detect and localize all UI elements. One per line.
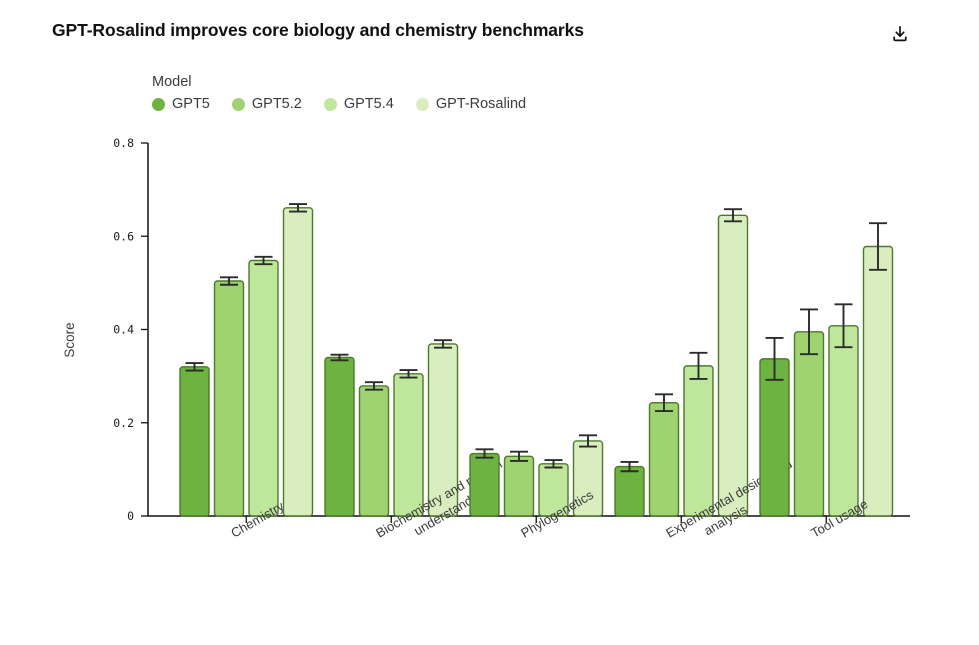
error-bar — [255, 257, 273, 264]
y-tick-label: 0 — [127, 509, 134, 523]
bar[interactable] — [284, 208, 313, 516]
error-bar — [621, 462, 639, 471]
bar[interactable] — [505, 456, 534, 516]
error-bar — [186, 363, 204, 370]
x-category-label: Phylogenetics — [518, 487, 596, 541]
bar[interactable] — [360, 386, 389, 516]
bar[interactable] — [215, 281, 244, 516]
page-title: GPT-Rosalind improves core biology and c… — [52, 20, 584, 41]
bar[interactable] — [394, 374, 423, 516]
bar[interactable] — [180, 367, 209, 516]
bar[interactable] — [539, 464, 568, 516]
x-category-label-line: Experimental design and — [663, 456, 794, 541]
error-bar — [835, 304, 853, 347]
error-bar — [655, 394, 673, 411]
y-axis-title: Score — [62, 322, 77, 357]
error-bar — [331, 355, 349, 361]
legend: Model GPT5GPT5.2GPT5.4GPT-Rosalind — [152, 74, 548, 112]
legend-item-label: GPT5 — [172, 96, 210, 112]
legend-title: Model — [152, 74, 548, 90]
x-category-label-line: understanding — [411, 484, 490, 538]
x-category-label: Tool usage — [808, 496, 870, 540]
download-icon — [890, 24, 910, 49]
x-category-label-line: Phylogenetics — [518, 487, 596, 541]
bar[interactable] — [829, 326, 858, 516]
x-category-label-line: Tool usage — [808, 496, 870, 540]
download-button[interactable] — [886, 22, 914, 50]
bar[interactable] — [719, 215, 748, 516]
bar[interactable] — [325, 357, 354, 516]
bar[interactable] — [470, 454, 499, 516]
legend-swatch-icon — [152, 98, 165, 111]
legend-swatch-icon — [324, 98, 337, 111]
x-category-label: Experimental design andanalysis — [663, 456, 803, 555]
bar[interactable] — [760, 359, 789, 516]
x-category-label-line: Chemistry — [228, 498, 287, 540]
error-bar — [690, 353, 708, 379]
error-bar — [400, 370, 418, 377]
x-category-label-line: analysis — [701, 502, 750, 539]
bar[interactable] — [864, 247, 893, 516]
bar[interactable] — [429, 344, 458, 516]
error-bar — [724, 209, 742, 221]
y-tick-label: 0.8 — [113, 136, 134, 150]
error-bar — [766, 338, 784, 380]
bar[interactable] — [249, 260, 278, 516]
error-bar — [365, 382, 383, 389]
bar[interactable] — [615, 467, 644, 516]
error-bar — [869, 223, 887, 270]
legend-item-label: GPT5.2 — [252, 96, 302, 112]
error-bar — [289, 204, 307, 211]
error-bar — [800, 309, 818, 354]
chart-header: GPT-Rosalind improves core biology and c… — [0, 0, 979, 60]
bar[interactable] — [795, 332, 824, 516]
legend-item-gpt5-2[interactable]: GPT5.2 — [232, 96, 302, 112]
legend-item-label: GPT5.4 — [344, 96, 394, 112]
legend-item-gpt-rosalind[interactable]: GPT-Rosalind — [416, 96, 526, 112]
legend-swatch-icon — [416, 98, 429, 111]
x-category-label: Chemistry — [228, 498, 287, 540]
error-bar — [510, 452, 528, 461]
error-bar — [476, 449, 494, 457]
legend-item-gpt5-4[interactable]: GPT5.4 — [324, 96, 394, 112]
error-bar — [545, 460, 563, 467]
bar[interactable] — [650, 403, 679, 516]
x-category-label: Biochemistry and proteinunderstanding — [373, 456, 513, 555]
error-bar — [220, 277, 238, 284]
y-tick-label: 0.4 — [113, 323, 134, 337]
y-tick-label: 0.6 — [113, 229, 134, 243]
error-bar — [579, 435, 597, 446]
bar[interactable] — [684, 366, 713, 516]
legend-item-label: GPT-Rosalind — [436, 96, 526, 112]
x-category-label-line: Biochemistry and protein — [373, 456, 504, 541]
legend-swatch-icon — [232, 98, 245, 111]
legend-items: GPT5GPT5.2GPT5.4GPT-Rosalind — [152, 96, 548, 112]
bar[interactable] — [574, 441, 603, 516]
legend-item-gpt5[interactable]: GPT5 — [152, 96, 210, 112]
error-bar — [434, 340, 452, 347]
y-tick-label: 0.2 — [113, 416, 134, 430]
